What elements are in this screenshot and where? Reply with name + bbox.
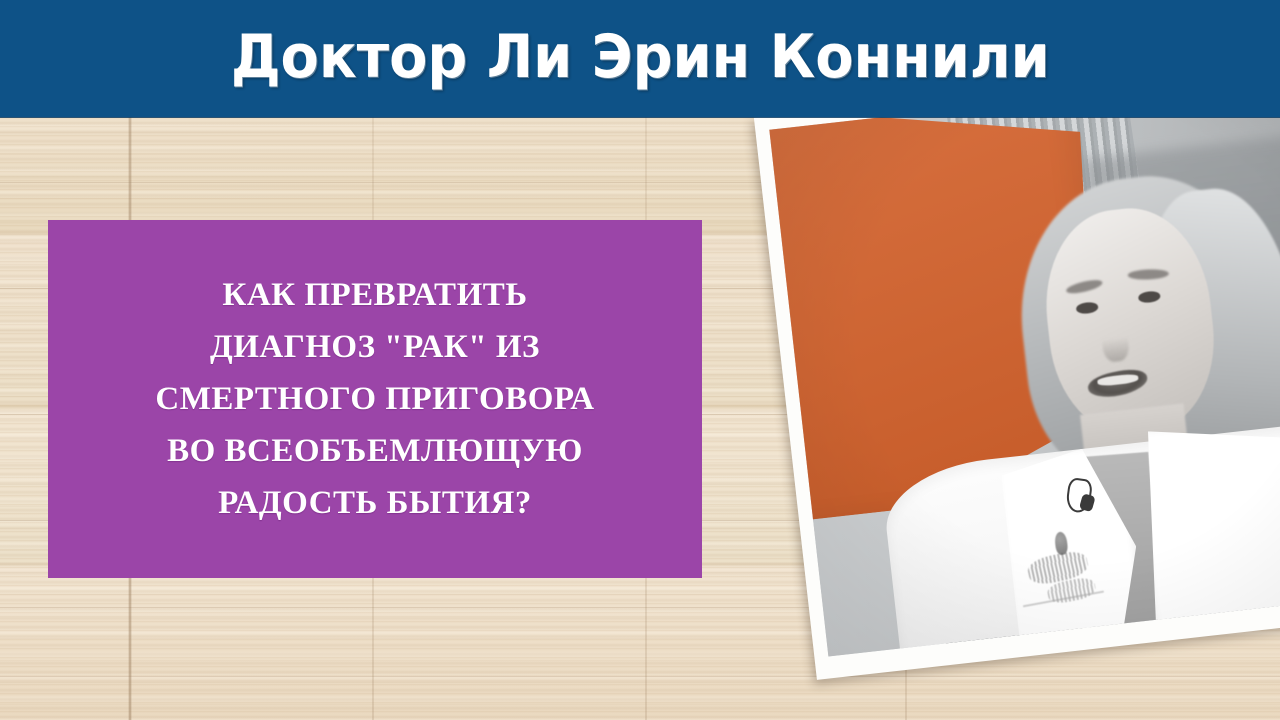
headline-line-3: СМЕРТНОГО ПРИГОВОРА bbox=[155, 373, 594, 425]
thumbnail-canvas: Доктор Ли Эрин Коннили КАК ПРЕВРАТИТЬ ДИ… bbox=[0, 0, 1280, 720]
lab-coat-lapel-right bbox=[1131, 414, 1280, 656]
doctor-photo-frame bbox=[754, 55, 1280, 680]
title-bar: Доктор Ли Эрин Коннили bbox=[0, 0, 1280, 117]
doctor-photo bbox=[769, 70, 1280, 656]
headline-line-2: ДИАГНОЗ "РАК" ИЗ bbox=[210, 321, 540, 373]
wood-grain-line bbox=[0, 676, 1280, 677]
headline-panel: КАК ПРЕВРАТИТЬ ДИАГНОЗ "РАК" ИЗ СМЕРТНОГ… bbox=[48, 220, 702, 578]
page-title: Доктор Ли Эрин Коннили bbox=[231, 27, 1050, 91]
person-figure bbox=[967, 135, 1280, 656]
headline-line-1: КАК ПРЕВРАТИТЬ bbox=[222, 269, 527, 321]
coat-button bbox=[1119, 630, 1131, 642]
headline-line-4: ВО ВСЕОБЪЕМЛЮЩУЮ bbox=[167, 425, 583, 477]
headline-line-5: РАДОСТЬ БЫТИЯ? bbox=[218, 477, 532, 529]
